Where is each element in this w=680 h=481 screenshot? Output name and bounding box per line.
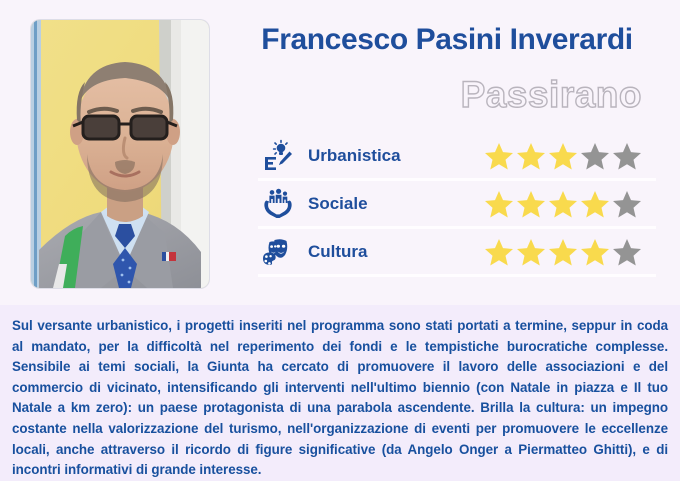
star-rating <box>484 141 642 171</box>
rating-row: Urbanistica <box>258 133 656 181</box>
avatar <box>31 20 209 288</box>
star-filled-icon <box>548 237 578 267</box>
ratings-list: Urbanistica <box>258 133 656 277</box>
star-filled-icon <box>484 237 514 267</box>
star-empty-icon <box>612 237 642 267</box>
rating-row: Cultura <box>258 229 656 277</box>
star-filled-icon <box>484 141 514 171</box>
star-filled-icon <box>516 237 546 267</box>
summary-text: Sul versante urbanistico, i progetti ins… <box>12 316 668 481</box>
star-empty-icon <box>612 141 642 171</box>
card-header-section: Francesco Pasini Inverardi Passirano <box>0 0 680 305</box>
star-filled-icon <box>580 237 610 267</box>
rating-label: Sociale <box>308 194 368 214</box>
rating-row: Sociale <box>258 181 656 229</box>
star-empty-icon <box>580 141 610 171</box>
star-rating <box>484 237 642 267</box>
portrait-photo <box>31 20 209 288</box>
star-rating <box>484 189 642 219</box>
star-filled-icon <box>548 141 578 171</box>
hands-family-icon <box>258 184 298 224</box>
star-filled-icon <box>516 189 546 219</box>
star-filled-icon <box>484 189 514 219</box>
summary-section: Sul versante urbanistico, i progetti ins… <box>0 305 680 481</box>
page-title: Francesco Pasini Inverardi <box>232 23 662 57</box>
lightbulb-blueprint-icon <box>258 136 298 176</box>
town-name: Passirano <box>232 74 662 116</box>
star-filled-icon <box>580 189 610 219</box>
theatre-masks-palette-icon <box>258 232 298 272</box>
star-filled-icon <box>548 189 578 219</box>
star-empty-icon <box>612 189 642 219</box>
rating-label: Urbanistica <box>308 146 401 166</box>
star-filled-icon <box>516 141 546 171</box>
mayor-rating-card: Francesco Pasini Inverardi Passirano <box>0 0 680 481</box>
rating-label: Cultura <box>308 242 368 262</box>
